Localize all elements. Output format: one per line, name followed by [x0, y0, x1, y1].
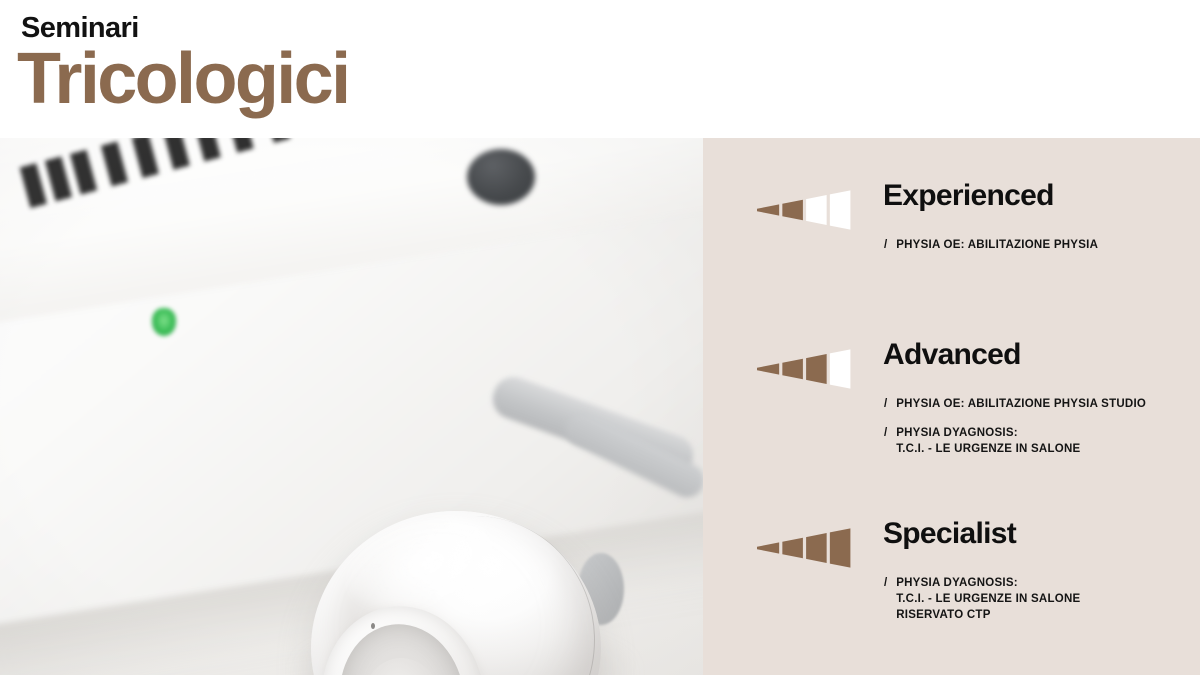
- levels-panel: Experienced /PHYSIA OE: ABILITAZIONE PHY…: [703, 138, 1200, 675]
- product-photo: [0, 138, 703, 675]
- item-slash: /: [884, 426, 887, 458]
- level-chevron-segment: [757, 542, 779, 553]
- level-item: /PHYSIA OE: ABILITAZIONE PHYSIA: [884, 238, 1194, 254]
- level-title: Advanced: [883, 337, 1021, 373]
- level-chevron-segment: [806, 354, 827, 384]
- level-chevron-segment: [830, 528, 851, 567]
- level-chevron-segment: [757, 204, 779, 215]
- item-line: PHYSIA DYAGNOSIS:: [896, 576, 1080, 592]
- level-chevron-segment: [782, 538, 803, 559]
- item-text: PHYSIA OE: ABILITAZIONE PHYSIA STUDIO: [896, 397, 1146, 413]
- header-band: Seminari Tricologici: [0, 0, 1200, 138]
- photo-vignette: [0, 138, 703, 675]
- item-line: PHYSIA OE: ABILITAZIONE PHYSIA: [896, 238, 1098, 254]
- item-line: T.C.I. - LE URGENZE IN SALONE: [896, 442, 1080, 458]
- level-title: Specialist: [883, 516, 1016, 552]
- item-line: PHYSIA OE: ABILITAZIONE PHYSIA STUDIO: [896, 397, 1146, 413]
- item-slash: /: [884, 397, 887, 413]
- level-chevron-icon: [757, 190, 852, 230]
- level-chevron-segment: [806, 533, 827, 563]
- level-item-list: /PHYSIA DYAGNOSIS:T.C.I. - LE URGENZE IN…: [884, 576, 1194, 637]
- item-line: RISERVATO CTP: [896, 608, 1080, 624]
- item-text: PHYSIA DYAGNOSIS:T.C.I. - LE URGENZE IN …: [896, 426, 1080, 458]
- level-chevron-segment: [830, 190, 851, 229]
- level-chevron-icon: [757, 349, 852, 389]
- level-item: /PHYSIA DYAGNOSIS:T.C.I. - LE URGENZE IN…: [884, 576, 1194, 624]
- level-item: /PHYSIA OE: ABILITAZIONE PHYSIA STUDIO: [884, 397, 1194, 413]
- level-chevron-segment: [757, 363, 779, 374]
- level-item: /PHYSIA DYAGNOSIS:T.C.I. - LE URGENZE IN…: [884, 426, 1194, 458]
- item-line: T.C.I. - LE URGENZE IN SALONE: [896, 592, 1080, 608]
- item-text: PHYSIA OE: ABILITAZIONE PHYSIA: [896, 238, 1098, 254]
- level-chevron-svg: [757, 190, 852, 230]
- level-chevron-segment: [830, 349, 851, 388]
- level-item-list: /PHYSIA OE: ABILITAZIONE PHYSIA STUDIO/P…: [884, 397, 1194, 471]
- item-line: PHYSIA DYAGNOSIS:: [896, 426, 1080, 442]
- level-title: Experienced: [883, 178, 1054, 214]
- level-chevron-segment: [782, 359, 803, 380]
- level-item-list: /PHYSIA OE: ABILITAZIONE PHYSIA: [884, 238, 1194, 267]
- level-chevron-icon: [757, 528, 852, 568]
- item-slash: /: [884, 576, 887, 624]
- level-chevron-svg: [757, 349, 852, 389]
- level-chevron-svg: [757, 528, 852, 568]
- item-slash: /: [884, 238, 887, 254]
- item-text: PHYSIA DYAGNOSIS:T.C.I. - LE URGENZE IN …: [896, 576, 1080, 624]
- page-title: Tricologici: [17, 43, 348, 115]
- level-chevron-segment: [782, 200, 803, 221]
- level-chevron-segment: [806, 195, 827, 225]
